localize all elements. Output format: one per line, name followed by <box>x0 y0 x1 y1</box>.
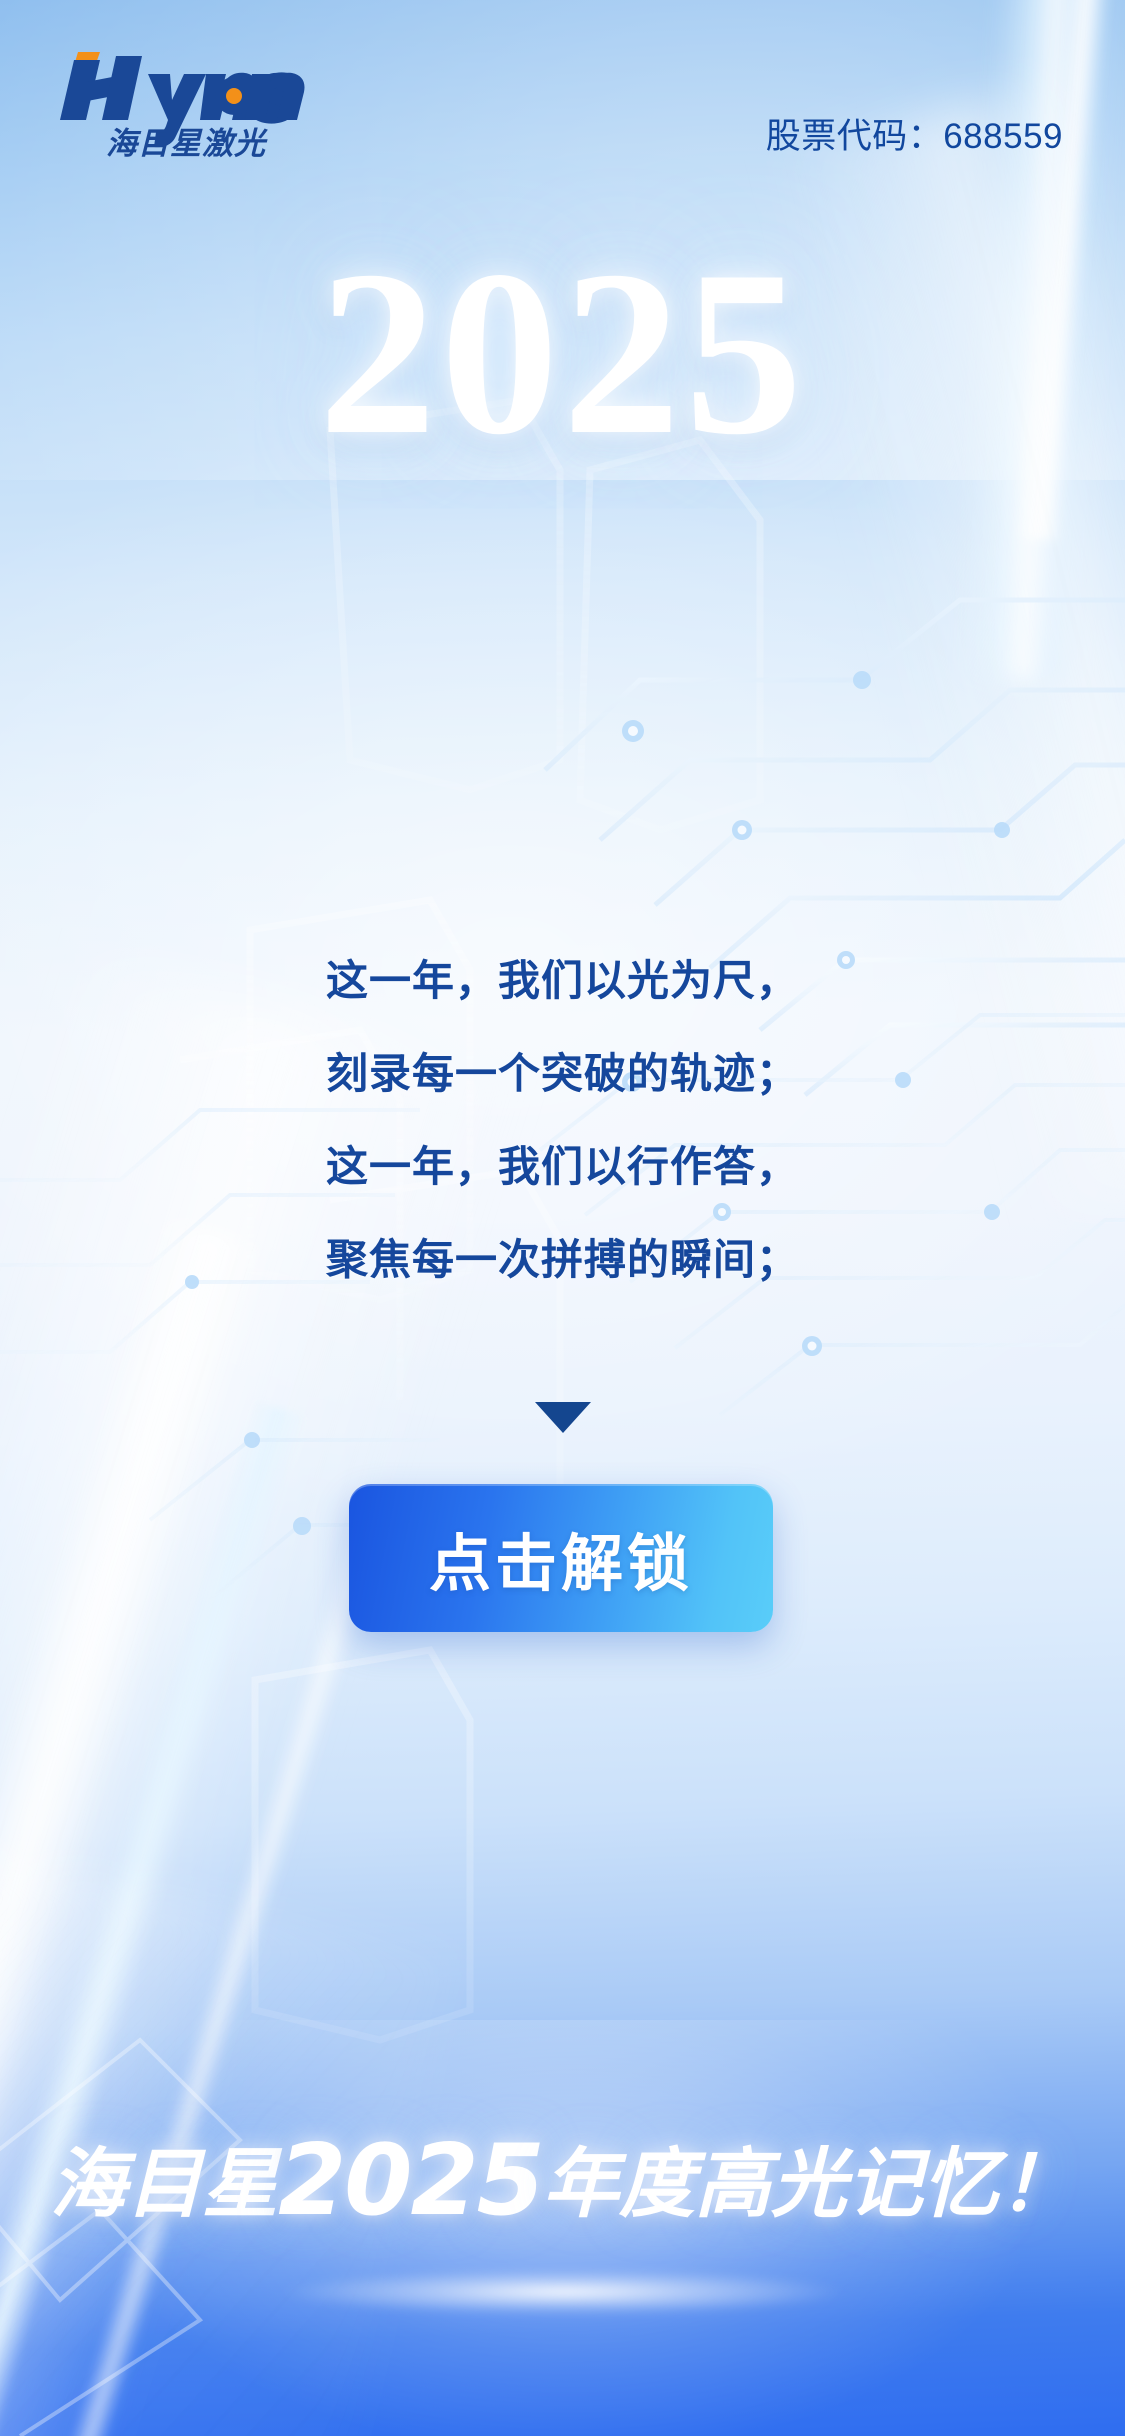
header: 海目星激光 股票代码：688559 <box>0 0 1125 190</box>
stock-code-label: 股票代码：688559 <box>766 108 1063 159</box>
unlock-button[interactable]: 点击解锁 <box>349 1484 773 1632</box>
hero-year: 2025 <box>319 236 807 472</box>
unlock-button-label: 点击解锁 <box>429 1513 693 1603</box>
footer-headline: 海目星2025年度高光记忆！ <box>0 2132 1125 2230</box>
footer-headline-prefix: 海目星 <box>50 2139 278 2228</box>
triangle-down-icon <box>535 1402 591 1433</box>
diagonal-light-streak-c <box>30 1519 386 2436</box>
poem-block: 这一年，我们以光为尺， 刻录每一个突破的轨迹； 这一年，我们以行作答， 聚焦每一… <box>0 960 1125 1281</box>
footer-headline-suffix: 年度高光记忆！ <box>543 2139 1075 2228</box>
diagonal-light-streak-b <box>0 1400 309 2436</box>
footer-headline-inner: 海目星2025年度高光记忆！ <box>50 2132 1075 2230</box>
poem-line: 刻录每一个突破的轨迹； <box>0 1053 1125 1095</box>
poem-line: 聚焦每一次拼搏的瞬间； <box>0 1239 1125 1281</box>
poem-line: 这一年，我们以行作答， <box>0 1146 1125 1188</box>
poem-line: 这一年，我们以光为尺， <box>0 960 1125 1002</box>
footer-headline-underglow <box>283 2270 843 2314</box>
svg-text:海目星激光: 海目星激光 <box>106 126 268 162</box>
footer-headline-year: 2025 <box>278 2124 543 2238</box>
hymson-logo: 海目星激光 <box>56 44 306 162</box>
diagonal-light-streak-a <box>0 1217 267 2436</box>
poster-root: 海目星激光 股票代码：688559 2025 这一年，我们以光为尺， 刻录每一个… <box>0 0 1125 2436</box>
hero-year-container: 2025 <box>0 236 1125 472</box>
